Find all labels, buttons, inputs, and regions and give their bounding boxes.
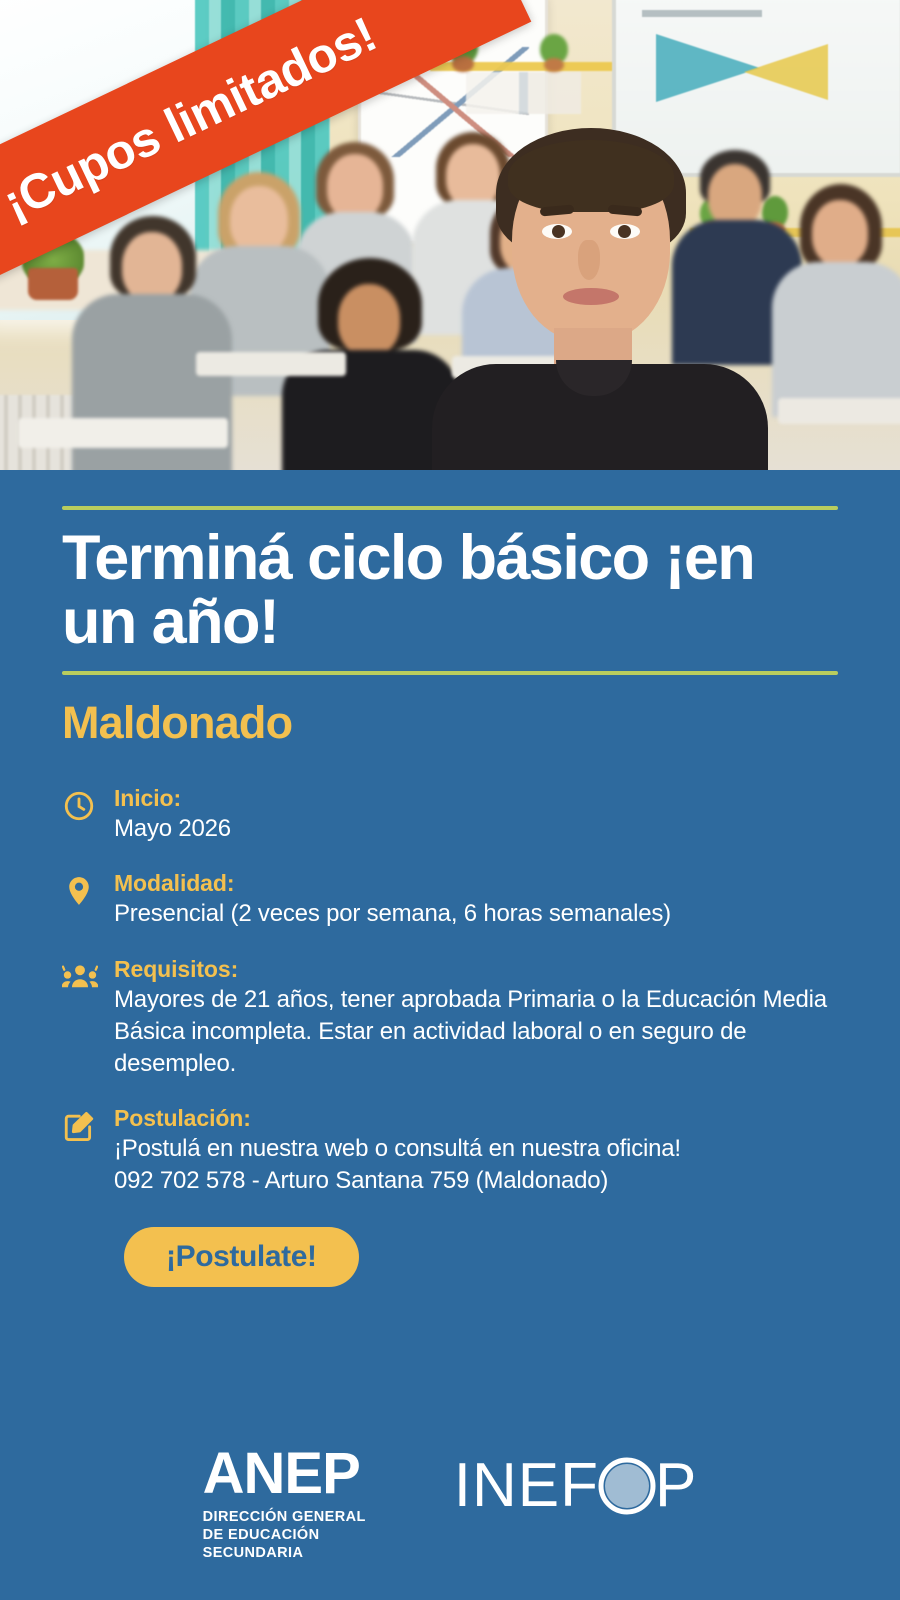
info-value: Mayores de 21 años, tener aprobada Prima… [114, 984, 838, 1079]
classroom-photo [0, 0, 900, 470]
divider-mid [62, 671, 838, 675]
anep-logo: ANEP DIRECCIÓN GENERAL DE EDUCACIÓN SECU… [203, 1447, 366, 1562]
clock-icon [62, 785, 114, 823]
info-label: Requisitos: [114, 956, 838, 983]
info-label: Postulación: [114, 1105, 838, 1132]
info-list: Inicio: Mayo 2026 Modalidad: Presencial … [62, 785, 838, 1197]
info-value: Presencial (2 veces por semana, 6 horas … [114, 898, 838, 930]
anep-wordmark: ANEP [203, 1447, 366, 1500]
inefop-ring-icon [597, 1456, 657, 1516]
info-label: Modalidad: [114, 870, 838, 897]
people-group-icon [62, 956, 114, 994]
city-name: Maldonado [62, 697, 838, 749]
edit-note-icon [62, 1105, 114, 1143]
postulate-button[interactable]: ¡Postulate! [124, 1227, 359, 1287]
info-value: Mayo 2026 [114, 813, 838, 845]
info-row-inicio: Inicio: Mayo 2026 [62, 785, 838, 845]
footer-logos: ANEP DIRECCIÓN GENERAL DE EDUCACIÓN SECU… [0, 1447, 900, 1562]
inefop-logo: INEF P [454, 1455, 698, 1517]
anep-subtitle: DIRECCIÓN GENERAL DE EDUCACIÓN SECUNDARI… [203, 1508, 366, 1562]
info-value: ¡Postulá en nuestra web o consultá en nu… [114, 1133, 838, 1196]
inefop-wordmark-part2: P [655, 1455, 697, 1517]
page-title: Terminá ciclo básico ¡en un año! [62, 526, 838, 655]
divider-top [62, 506, 838, 510]
info-row-postulacion: Postulación: ¡Postulá en nuestra web o c… [62, 1105, 838, 1196]
inefop-wordmark-part1: INEF [454, 1455, 599, 1517]
location-pin-icon [62, 870, 114, 908]
info-label: Inicio: [114, 785, 838, 812]
content-panel: Terminá ciclo básico ¡en un año! Maldona… [0, 470, 900, 1600]
info-row-modalidad: Modalidad: Presencial (2 veces por seman… [62, 870, 838, 930]
info-row-requisitos: Requisitos: Mayores de 21 años, tener ap… [62, 956, 838, 1079]
poster-root: ¡Cupos limitados! Terminá ciclo básico ¡… [0, 0, 900, 1600]
